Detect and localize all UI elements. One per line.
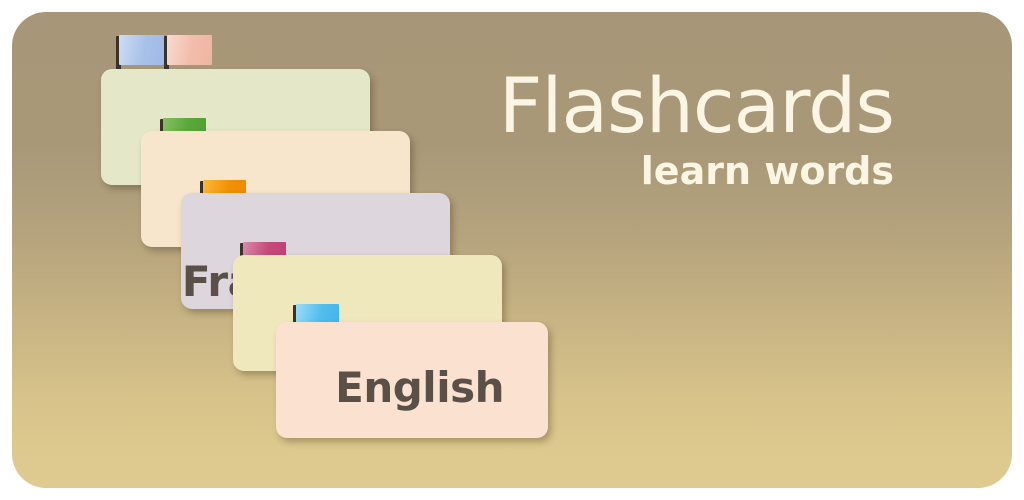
flashcards-banner: English Русский Francaises Deutsch: [0, 0, 1024, 500]
flag-cloth: [167, 35, 212, 65]
banner-plate: English Русский Francaises Deutsch: [12, 12, 1012, 488]
page-subtitle: learn words: [474, 152, 894, 190]
page-title: Flashcards: [474, 70, 894, 142]
language-card-label: English: [335, 367, 504, 409]
title-block: Flashcards learn words: [474, 70, 894, 190]
flag-cloth: [119, 35, 164, 65]
language-card-english-front[interactable]: English: [276, 322, 548, 438]
